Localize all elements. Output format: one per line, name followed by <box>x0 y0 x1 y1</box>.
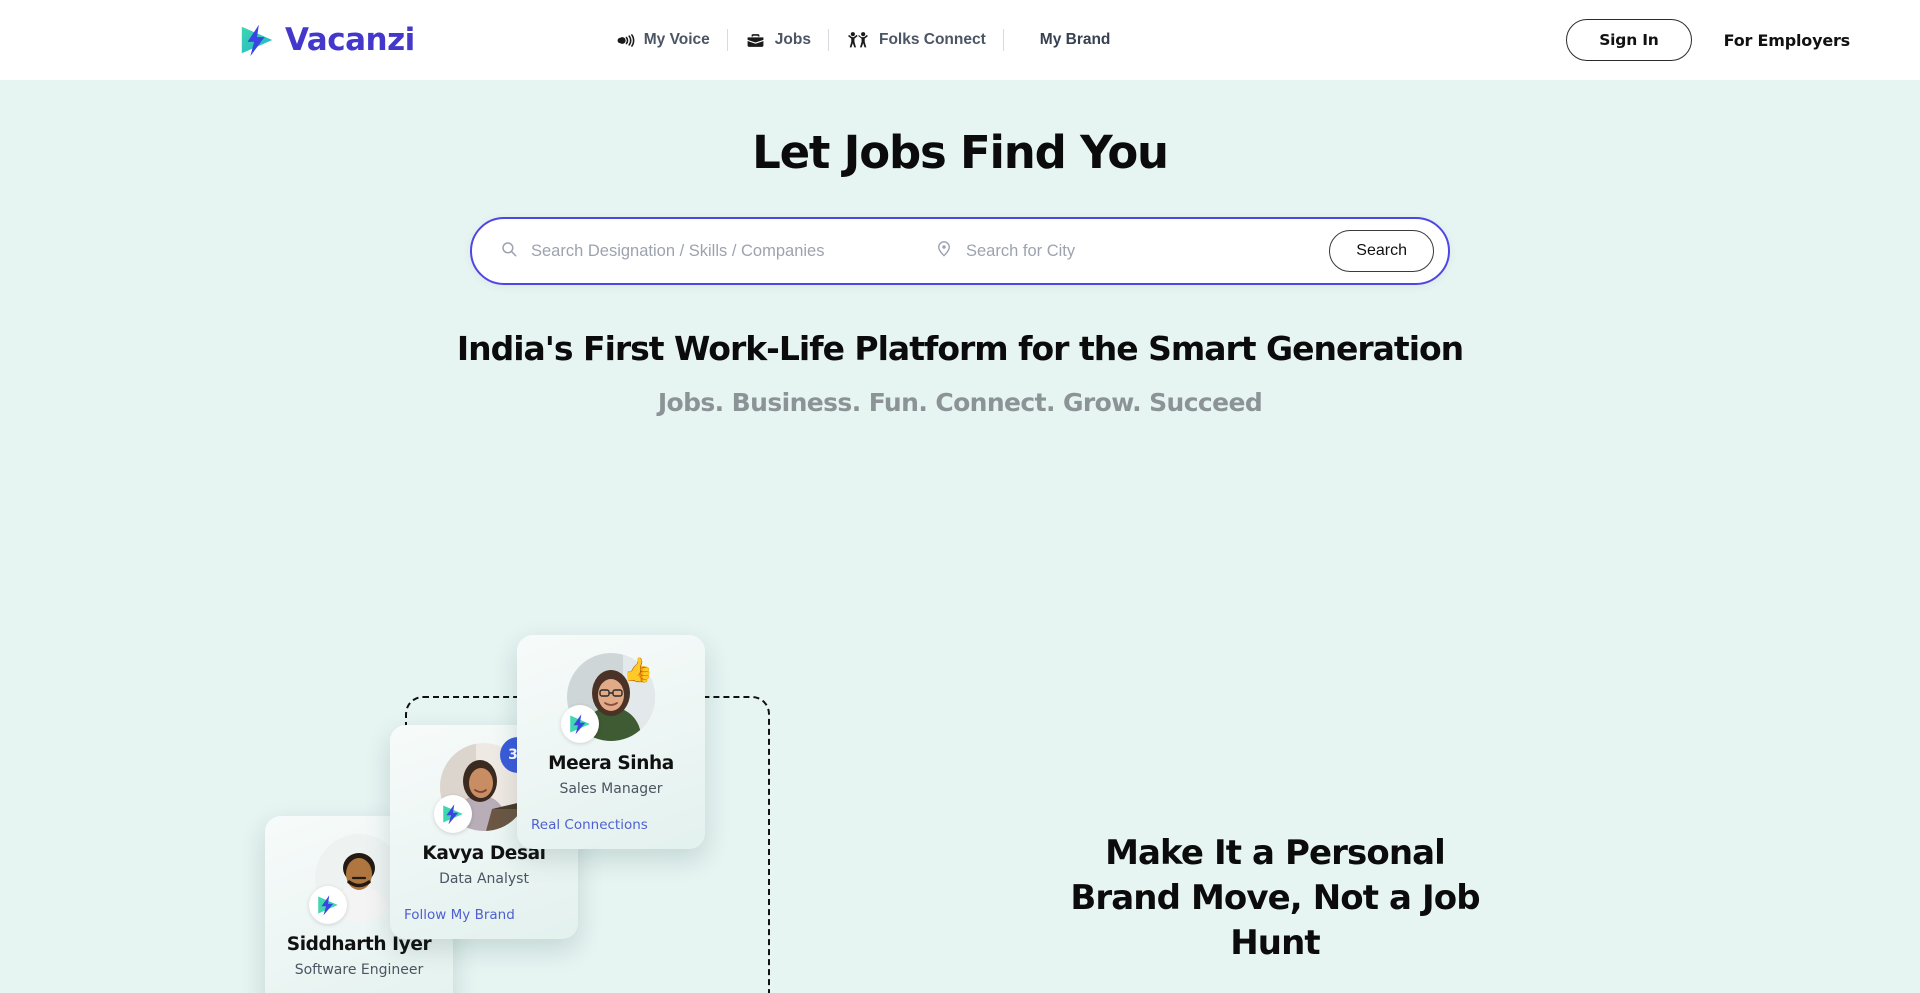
hero-subtitle: India's First Work-Life Platform for the… <box>0 329 1920 368</box>
city-search-field[interactable] <box>930 219 1323 283</box>
profile-card-meera[interactable]: 👍 Meera Sinha Sales Manager Real Connect… <box>517 635 705 849</box>
nav-label-jobs: Jobs <box>775 31 811 49</box>
vacanzi-badge-icon <box>309 886 347 924</box>
profile-name: Meera Sinha <box>517 753 705 774</box>
hero-tagline: Jobs. Business. Fun. Connect. Grow. Succ… <box>0 388 1920 417</box>
brand-logo[interactable]: Vacanzi <box>238 21 415 59</box>
vacanzi-play-bolt-logo-icon <box>238 21 276 59</box>
keyword-search-field[interactable] <box>500 219 930 283</box>
profile-action-link[interactable]: Follow My Brand <box>390 907 578 923</box>
avatar-wrapper: 3h <box>440 743 528 831</box>
for-employers-link[interactable]: For Employers <box>1724 31 1860 50</box>
broadcast-icon <box>616 31 635 50</box>
page-title: Let Jobs Find You <box>0 126 1920 179</box>
profile-action-link[interactable]: Real Connections <box>517 817 705 833</box>
search-input[interactable] <box>531 219 930 283</box>
main-navigation: My Voice Jobs <box>599 29 1128 51</box>
profile-role: Sales Manager <box>517 781 705 797</box>
hero-section: Let Jobs Find You Search India's First W… <box>0 126 1920 993</box>
search-bar: Search <box>470 217 1450 285</box>
briefcase-icon <box>745 31 766 50</box>
sign-in-button[interactable]: Sign In <box>1566 19 1691 61</box>
people-connect-icon <box>846 31 870 50</box>
nav-label-my-brand: My Brand <box>1040 31 1111 49</box>
site-header: Vacanzi My Voice <box>0 0 1920 80</box>
vacanzi-badge-icon <box>561 705 599 743</box>
nav-item-my-voice[interactable]: My Voice <box>599 31 727 50</box>
nav-item-my-brand[interactable]: My Brand <box>1004 31 1128 49</box>
profile-role: Data Analyst <box>390 871 578 887</box>
vacanzi-badge-icon <box>434 795 472 833</box>
hero-right-headline: Make It a Personal Brand Move, Not a Job… <box>1060 831 1490 967</box>
city-input[interactable] <box>966 219 1323 283</box>
nav-label-my-voice: My Voice <box>644 31 710 49</box>
brand-name: Vacanzi <box>285 22 415 58</box>
nav-item-jobs[interactable]: Jobs <box>728 31 828 50</box>
search-button[interactable]: Search <box>1329 230 1434 272</box>
search-icon <box>500 240 518 263</box>
header-actions: Sign In For Employers <box>1566 19 1860 61</box>
nav-label-folks-connect: Folks Connect <box>879 31 986 49</box>
avatar-wrapper: 👍 <box>567 653 655 741</box>
location-pin-icon <box>935 239 953 263</box>
profile-cards-cluster: 👍 Meera Sinha Sales Manager Real Connect… <box>320 646 740 993</box>
profile-role: Software Engineer <box>265 962 453 978</box>
thumbs-up-icon: 👍 <box>623 659 653 683</box>
nav-item-folks-connect[interactable]: Folks Connect <box>829 31 1003 50</box>
